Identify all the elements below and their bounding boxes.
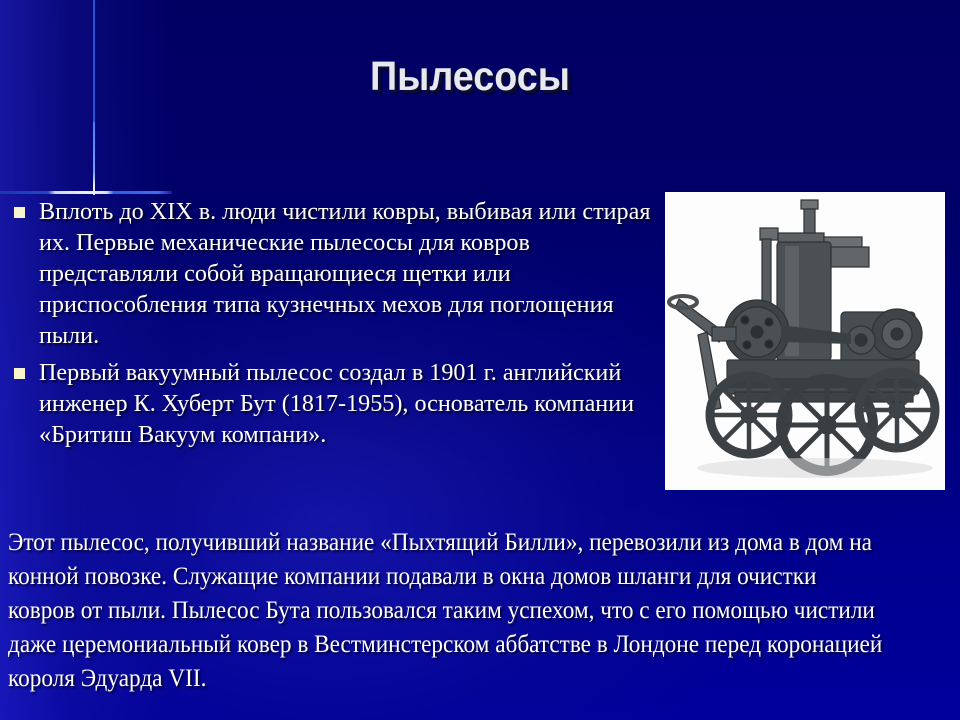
square-bullet-icon [14, 368, 25, 379]
slide-title: Пылесосы [102, 52, 838, 100]
square-bullet-icon [14, 207, 25, 218]
deco-horizontal-line-icon [0, 191, 172, 194]
closing-paragraph-text: Этот пылесос, получивший название «Пыхтя… [8, 526, 886, 696]
list-item: Первый вакуумный пылесос создал в 1901 г… [14, 357, 662, 450]
deco-vertical-line-icon [93, 0, 95, 195]
presentation-slide: Пылесосы Вплоть до XIX в. люди чистили к… [0, 0, 960, 720]
puffing-billy-vacuum-photo [665, 192, 945, 490]
list-item: Вплоть до XIX в. люди чистили ковры, выб… [14, 196, 662, 351]
bullet-text: Вплоть до XIX в. люди чистили ковры, выб… [39, 196, 653, 351]
bullet-text: Первый вакуумный пылесос создал в 1901 г… [39, 357, 653, 450]
closing-paragraph: Этот пылесос, получивший название «Пыхтя… [8, 526, 886, 696]
bullet-list: Вплоть до XIX в. люди чистили ковры, выб… [14, 196, 662, 456]
